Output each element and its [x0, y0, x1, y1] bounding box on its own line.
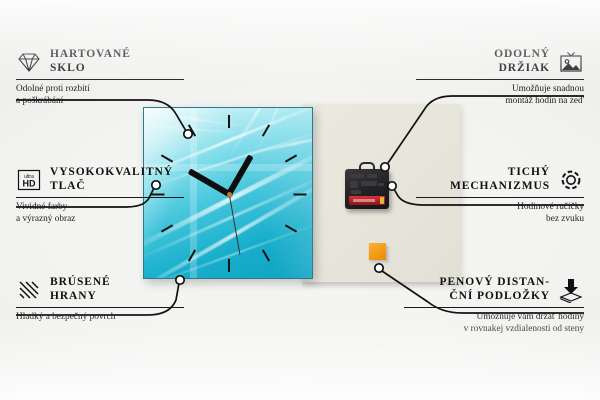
feature-title: VYSOKOKVALITNÝ TLAČ [50, 166, 173, 193]
svg-text:HD: HD [23, 178, 36, 188]
feature-description: Hladký a bezpečný povrch [16, 312, 184, 324]
feature-title: PENOVÝ DISTAN- ČNÍ PODLOŽKY [440, 276, 550, 303]
picture-hanger-icon [558, 49, 584, 75]
feature-description: Umožňuje snadnou montáž hodin na zeď [416, 84, 584, 107]
feature-silent-mechanism: TICHÝ MECHANIZMUS Hodinové ručičky bez z… [416, 166, 584, 225]
feature-title: TICHÝ MECHANIZMUS [450, 166, 550, 193]
connector-dot-hanger [381, 163, 389, 171]
gear-icon [558, 167, 584, 193]
feature-description: Hodinové ručičky bez zvuku [416, 202, 584, 225]
divider [16, 197, 184, 198]
diamond-icon [16, 49, 42, 75]
divider [404, 307, 584, 308]
feature-description: Umožňuje vám držať hodiny v rovnakej vzd… [404, 312, 584, 335]
foam-pad-icon [558, 277, 584, 303]
ultra-hd-icon: ultra HD [16, 167, 42, 193]
connector-dot-mechanism [388, 182, 396, 190]
feature-ground-edges: BRÚSENÉ HRANY Hladký a bezpečný povrch [16, 276, 184, 324]
feature-durable-hanger: ODOLNÝ DRŽIAK Umožňuje snadnou montáž ho… [416, 48, 584, 107]
feature-description: Odolné proti rozbití a poškrábání [16, 84, 184, 107]
feature-tempered-glass: HARTOVANÉ SKLO Odolné proti rozbití a po… [16, 48, 184, 107]
divider [16, 79, 184, 80]
infographic-stage: HARTOVANÉ SKLO Odolné proti rozbití a po… [0, 0, 600, 400]
connector-dot-foam [375, 264, 383, 272]
divider [416, 79, 584, 80]
feature-foam-spacers: PENOVÝ DISTAN- ČNÍ PODLOŽKY Umožňuje vám… [404, 276, 584, 335]
feature-hq-print: ultra HD VYSOKOKVALITNÝ TLAČ Vividné far… [16, 166, 184, 225]
feature-title: ODOLNÝ DRŽIAK [494, 48, 550, 75]
divider [16, 307, 184, 308]
feature-description: Vividné farby a výrazný obraz [16, 202, 184, 225]
ground-edges-icon [16, 277, 42, 303]
feature-title: BRÚSENÉ HRANY [50, 276, 111, 303]
divider [416, 197, 584, 198]
connector-dot-glass [184, 130, 192, 138]
feature-title: HARTOVANÉ SKLO [50, 48, 131, 75]
